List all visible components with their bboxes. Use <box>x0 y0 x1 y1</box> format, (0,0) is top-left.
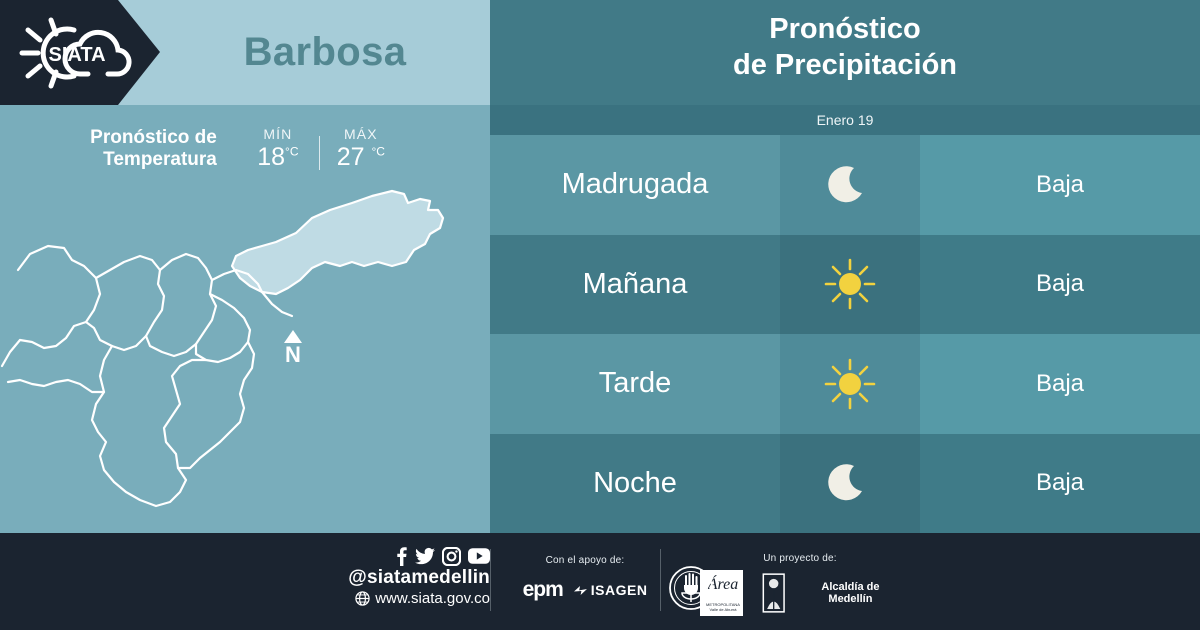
temperature-max: MÁX 27 °C <box>322 126 400 172</box>
row-level-cell: Baja <box>920 235 1200 335</box>
alcaldia-label: Alcaldía de Medellín <box>801 581 900 605</box>
row-period-cell: Tarde <box>490 334 780 434</box>
footer-divider-1 <box>490 549 491 611</box>
row-level-cell: Baja <box>920 334 1200 434</box>
universidad-de-medellin-seal-icon <box>668 565 714 611</box>
footer-website[interactable]: www.siata.gov.co <box>330 590 490 607</box>
row-icon-cell <box>780 434 920 534</box>
period-label: Noche <box>593 467 677 500</box>
map-region-barbosa[interactable] <box>232 191 443 294</box>
project-logos: Área METROPOLITANAValle de Aburrá Alcald… <box>700 570 900 616</box>
temperature-max-caption: MÁX <box>322 126 400 142</box>
precipitation-level: Baja <box>1036 370 1084 398</box>
temperature-min-caption: MÍN <box>239 126 317 142</box>
support-caption: Con el apoyo de: <box>505 555 665 566</box>
row-level-cell: Baja <box>920 135 1200 235</box>
row-icon-cell <box>780 135 920 235</box>
temperature-title-line2: Temperatura <box>90 149 217 171</box>
temperature-min: MÍN 18°C <box>239 126 317 172</box>
row-level-cell: Baja <box>920 434 1200 534</box>
table-row[interactable]: Noche Baja <box>490 434 1200 534</box>
row-period-cell: Madrugada <box>490 135 780 235</box>
alcaldia-logo: Alcaldía de Medellín <box>752 570 900 616</box>
temperature-min-value: 18 <box>257 143 285 171</box>
temperature-max-unit: °C <box>371 145 384 159</box>
precipitation-level: Baja <box>1036 171 1084 199</box>
map-svg <box>0 170 490 533</box>
sun-cloud-icon: SIATA <box>14 14 146 92</box>
forecast-date: Enero 19 <box>817 112 874 128</box>
social-icons <box>330 546 490 566</box>
precipitation-title: Pronóstico de Precipitación <box>490 12 1200 84</box>
period-label: Mañana <box>583 268 688 301</box>
project-caption: Un proyecto de: <box>700 553 900 564</box>
forecast-rows: Madrugada Baja Mañana <box>490 135 1200 533</box>
facebook-icon[interactable] <box>395 546 408 566</box>
row-icon-cell <box>780 334 920 434</box>
moon-icon <box>824 457 876 509</box>
isagen-text: ISAGEN <box>591 582 648 598</box>
youtube-icon[interactable] <box>468 548 490 564</box>
city-title: Barbosa <box>160 0 490 105</box>
svg-text:SIATA: SIATA <box>48 44 105 66</box>
footer-divider-2 <box>660 549 661 611</box>
row-period-cell: Mañana <box>490 235 780 335</box>
epm-logo: epm <box>523 578 563 602</box>
north-arrow: N <box>275 330 311 366</box>
weather-forecast-infographic: SIATA Barbosa Pronóstico de Temperatura … <box>0 0 1200 630</box>
left-panel: SIATA Barbosa Pronóstico de Temperatura … <box>0 0 490 533</box>
isagen-logo: ISAGEN <box>573 582 648 598</box>
table-row[interactable]: Mañana <box>490 235 1200 335</box>
forecast-date-band: Enero 19 <box>490 105 1200 135</box>
north-arrow-label: N <box>275 344 311 366</box>
isagen-mark-icon <box>573 584 588 597</box>
sun-icon <box>823 357 877 411</box>
temperature-title-line1: Pronóstico de <box>90 127 217 149</box>
temperature-min-unit: °C <box>285 145 298 159</box>
support-block: Con el apoyo de: epm ISAGEN <box>505 555 665 602</box>
moon-icon <box>824 159 876 211</box>
alcaldia-crest-icon <box>752 570 795 616</box>
period-label: Tarde <box>599 367 672 400</box>
table-row[interactable]: Tarde <box>490 334 1200 434</box>
support-logos: epm ISAGEN <box>505 578 665 602</box>
instagram-icon[interactable] <box>442 547 461 566</box>
temperature-title: Pronóstico de Temperatura <box>90 127 217 172</box>
sun-icon <box>823 257 877 311</box>
project-block: Un proyecto de: Área METROPOLITANAValle … <box>700 553 900 616</box>
footer: @siatamedellin www.siata.gov.co Con el a… <box>0 533 1200 630</box>
social-handle[interactable]: @siatamedellin <box>330 567 490 589</box>
municipality-map: N <box>0 170 490 533</box>
precipitation-title-line2: de Precipitación <box>490 48 1200 84</box>
period-label: Madrugada <box>562 168 709 201</box>
website-url: www.siata.gov.co <box>375 590 490 607</box>
footer-social-block: @siatamedellin www.siata.gov.co <box>330 546 490 607</box>
precipitation-title-line1: Pronóstico <box>490 12 1200 48</box>
temperature-max-value: 27 <box>337 143 365 171</box>
precipitation-panel: Pronóstico de Precipitación Enero 19 Mad… <box>490 0 1200 533</box>
temperature-divider <box>319 136 320 170</box>
table-row[interactable]: Madrugada Baja <box>490 135 1200 235</box>
precipitation-level: Baja <box>1036 469 1084 497</box>
twitter-icon[interactable] <box>415 546 435 566</box>
globe-icon <box>355 591 370 606</box>
row-period-cell: Noche <box>490 434 780 534</box>
precipitation-level: Baja <box>1036 270 1084 298</box>
row-icon-cell <box>780 235 920 335</box>
